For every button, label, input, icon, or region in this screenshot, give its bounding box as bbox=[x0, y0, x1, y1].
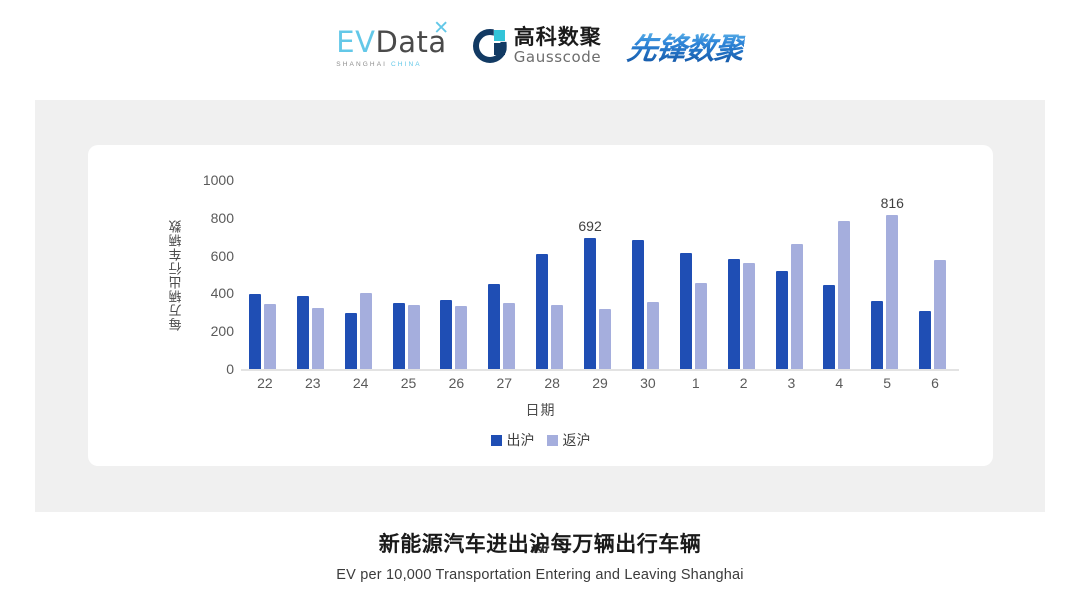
legend-item[interactable]: 返沪 bbox=[547, 430, 591, 450]
bar-series1 bbox=[393, 303, 405, 369]
legend-item[interactable]: 出沪 bbox=[491, 430, 535, 450]
bar-series2 bbox=[455, 306, 467, 369]
bar-group bbox=[385, 180, 433, 369]
bar-series1 bbox=[919, 311, 931, 369]
bar-group bbox=[768, 180, 816, 369]
bar-series1 bbox=[440, 300, 452, 369]
logo-bar: EVData ✕ SHANGHAI CHINA 高科数聚 Gausscode 先… bbox=[0, 0, 1080, 92]
bar-series2 bbox=[360, 293, 372, 369]
evdata-wordmark: EVData ✕ bbox=[336, 28, 446, 57]
x-axis-line bbox=[241, 369, 959, 371]
bar-series1 bbox=[249, 294, 261, 369]
bar-group bbox=[528, 180, 576, 369]
gausscode-cn-text: 高科数聚 bbox=[514, 27, 602, 48]
x-axis-tick-label: 2 bbox=[722, 375, 766, 391]
gausscode-mark-icon bbox=[473, 29, 507, 63]
bar-series1 bbox=[728, 259, 740, 369]
x-axis-tick-label: 25 bbox=[387, 375, 431, 391]
x-axis-tick-label: 24 bbox=[339, 375, 383, 391]
evdata-tagline-country: CHINA bbox=[391, 61, 422, 68]
bar-series1 bbox=[488, 284, 500, 369]
gausscode-logo: 高科数聚 Gausscode bbox=[473, 27, 602, 65]
bar-series2 bbox=[791, 244, 803, 369]
y-axis-tick-label: 200 bbox=[188, 323, 234, 339]
legend-swatch bbox=[547, 435, 558, 446]
gausscode-square-dark bbox=[494, 43, 505, 55]
bar-group bbox=[672, 180, 720, 369]
x-axis-tick-label: 3 bbox=[769, 375, 813, 391]
bar-series2 bbox=[408, 305, 420, 369]
legend-swatch bbox=[491, 435, 502, 446]
bar-series1 bbox=[680, 253, 692, 369]
x-axis-tick-label: 22 bbox=[243, 375, 287, 391]
bar-series2: 816 bbox=[886, 215, 898, 369]
evdata-ev-text: EV bbox=[336, 25, 375, 59]
bar-group bbox=[337, 180, 385, 369]
chart-legend: 出沪返沪 bbox=[88, 430, 993, 450]
bar-group bbox=[815, 180, 863, 369]
y-axis-tick-label: 600 bbox=[188, 248, 234, 264]
bar-series2 bbox=[599, 309, 611, 369]
bar-series1: 692 bbox=[584, 238, 596, 369]
bar-group bbox=[241, 180, 289, 369]
x-axis-tick-label: 29 bbox=[578, 375, 622, 391]
caption-artifact-glyph: 数 bbox=[531, 544, 551, 553]
bar-series2 bbox=[264, 304, 276, 369]
y-axis-tick-label: 1000 bbox=[188, 172, 234, 188]
x-axis-tick-label: 5 bbox=[865, 375, 909, 391]
bar-group bbox=[432, 180, 480, 369]
bar-group bbox=[720, 180, 768, 369]
legend-label: 出沪 bbox=[507, 430, 535, 450]
bar-series2 bbox=[934, 260, 946, 369]
evdata-tagline-city: SHANGHAI bbox=[336, 61, 387, 68]
caption-title-cn: 新能源汽车进出沪每万辆出行车辆 数 bbox=[0, 528, 1080, 558]
bar-series1 bbox=[536, 254, 548, 369]
x-axis-tick-label: 28 bbox=[530, 375, 574, 391]
bar-series1 bbox=[345, 313, 357, 369]
bar-series2 bbox=[838, 221, 850, 369]
bar-series1 bbox=[776, 271, 788, 369]
bar-group bbox=[289, 180, 337, 369]
bar-group bbox=[911, 180, 959, 369]
legend-label: 返沪 bbox=[563, 430, 591, 450]
x-mark-icon: ✕ bbox=[433, 19, 449, 38]
bar-group: 816 bbox=[863, 180, 911, 369]
bar-series1 bbox=[823, 285, 835, 369]
bar-series2 bbox=[647, 302, 659, 369]
x-axis-tick-label: 4 bbox=[817, 375, 861, 391]
bar-group bbox=[480, 180, 528, 369]
bar-series1 bbox=[632, 240, 644, 369]
gausscode-wordmark: 高科数聚 Gausscode bbox=[514, 27, 602, 65]
x-axis-tick-label: 27 bbox=[482, 375, 526, 391]
bar-value-label: 692 bbox=[578, 218, 601, 234]
plot-area: 692816 bbox=[241, 180, 959, 369]
bar-chart: 每万辆出行车辆数 02004006008001000 692816 日期 出沪返… bbox=[88, 145, 993, 466]
bar-series2 bbox=[312, 308, 324, 369]
bar-series2 bbox=[503, 303, 515, 369]
y-axis-tick-label: 400 bbox=[188, 285, 234, 301]
x-axis-tick-label: 30 bbox=[626, 375, 670, 391]
y-axis-tick-label: 800 bbox=[188, 210, 234, 226]
y-axis-title: 每万辆出行车辆数 bbox=[168, 185, 186, 365]
caption-subtitle-en: EV per 10,000 Transportation Entering an… bbox=[0, 567, 1080, 583]
gausscode-square-accent bbox=[494, 30, 505, 41]
gausscode-en-text: Gausscode bbox=[514, 50, 602, 65]
chart-card: 每万辆出行车辆数 02004006008001000 692816 日期 出沪返… bbox=[88, 145, 993, 466]
bar-series2 bbox=[695, 283, 707, 369]
x-axis-tick-label: 6 bbox=[913, 375, 957, 391]
bar-value-label: 816 bbox=[881, 195, 904, 211]
bar-series1 bbox=[297, 296, 309, 369]
bar-series2 bbox=[551, 305, 563, 369]
bar-series2 bbox=[743, 263, 755, 369]
evdata-logo: EVData ✕ SHANGHAI CHINA bbox=[336, 24, 446, 68]
caption-block: 新能源汽车进出沪每万辆出行车辆 数 EV per 10,000 Transpor… bbox=[0, 528, 1080, 583]
xianfeng-logo: 先锋数聚 bbox=[625, 24, 747, 68]
bar-series1 bbox=[871, 301, 883, 369]
x-axis-tick-label: 1 bbox=[674, 375, 718, 391]
x-axis-tick-label: 26 bbox=[434, 375, 478, 391]
bar-group bbox=[624, 180, 672, 369]
bar-group: 692 bbox=[576, 180, 624, 369]
y-axis-tick-label: 0 bbox=[188, 361, 234, 377]
x-axis-title: 日期 bbox=[88, 400, 993, 420]
evdata-tagline: SHANGHAI CHINA bbox=[336, 61, 421, 68]
x-axis-tick-label: 23 bbox=[291, 375, 335, 391]
